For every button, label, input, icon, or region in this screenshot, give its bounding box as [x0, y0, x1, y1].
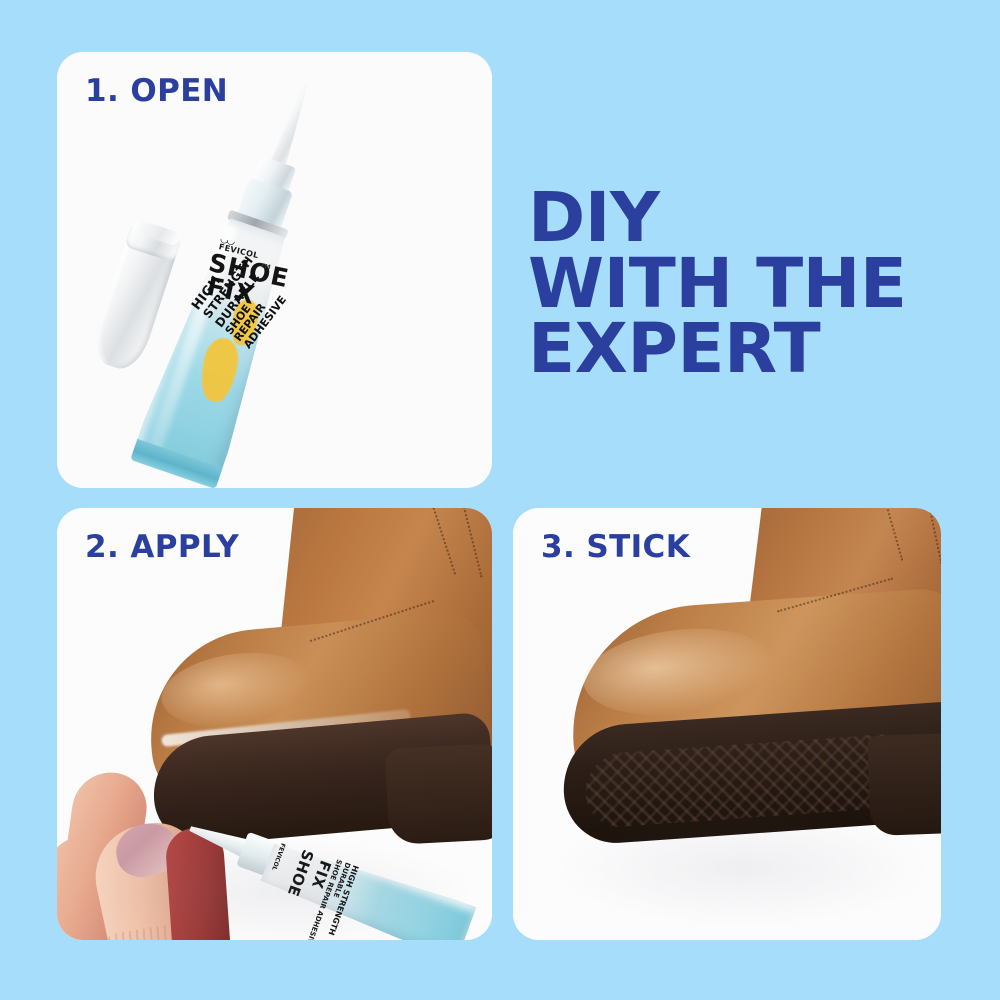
step-panel-stick: 3. STICK — [513, 508, 941, 940]
headline-line-3: EXPERT — [528, 317, 968, 383]
footprint-large-icon — [485, 924, 492, 940]
step-title-apply: 2. APPLY — [85, 532, 239, 563]
page-headline: DIY WITH THE EXPERT — [528, 186, 968, 383]
step-title-open: 1. OPEN — [85, 76, 228, 107]
boot-heel — [385, 743, 492, 845]
boot-heel — [867, 732, 941, 836]
product-tube-illustration: ◡◡ FEVICOL SHOE TM FIX HIGH STRENGTH DUR… — [57, 52, 492, 488]
apply-photo: FEVICOL SHOE FIX HIGH STRENGTH DURABLE S… — [57, 508, 492, 940]
stick-photo — [513, 508, 941, 940]
headline-line-1: DIY — [528, 186, 968, 252]
step-panel-apply: FEVICOL SHOE FIX HIGH STRENGTH DURABLE S… — [57, 508, 492, 940]
step-panel-open: ◡◡ FEVICOL SHOE TM FIX HIGH STRENGTH DUR… — [57, 52, 492, 488]
step-title-stick: 3. STICK — [541, 532, 690, 563]
headline-line-2: WITH THE — [528, 252, 968, 318]
infographic-canvas: ◡◡ FEVICOL SHOE TM FIX HIGH STRENGTH DUR… — [0, 0, 1000, 1000]
